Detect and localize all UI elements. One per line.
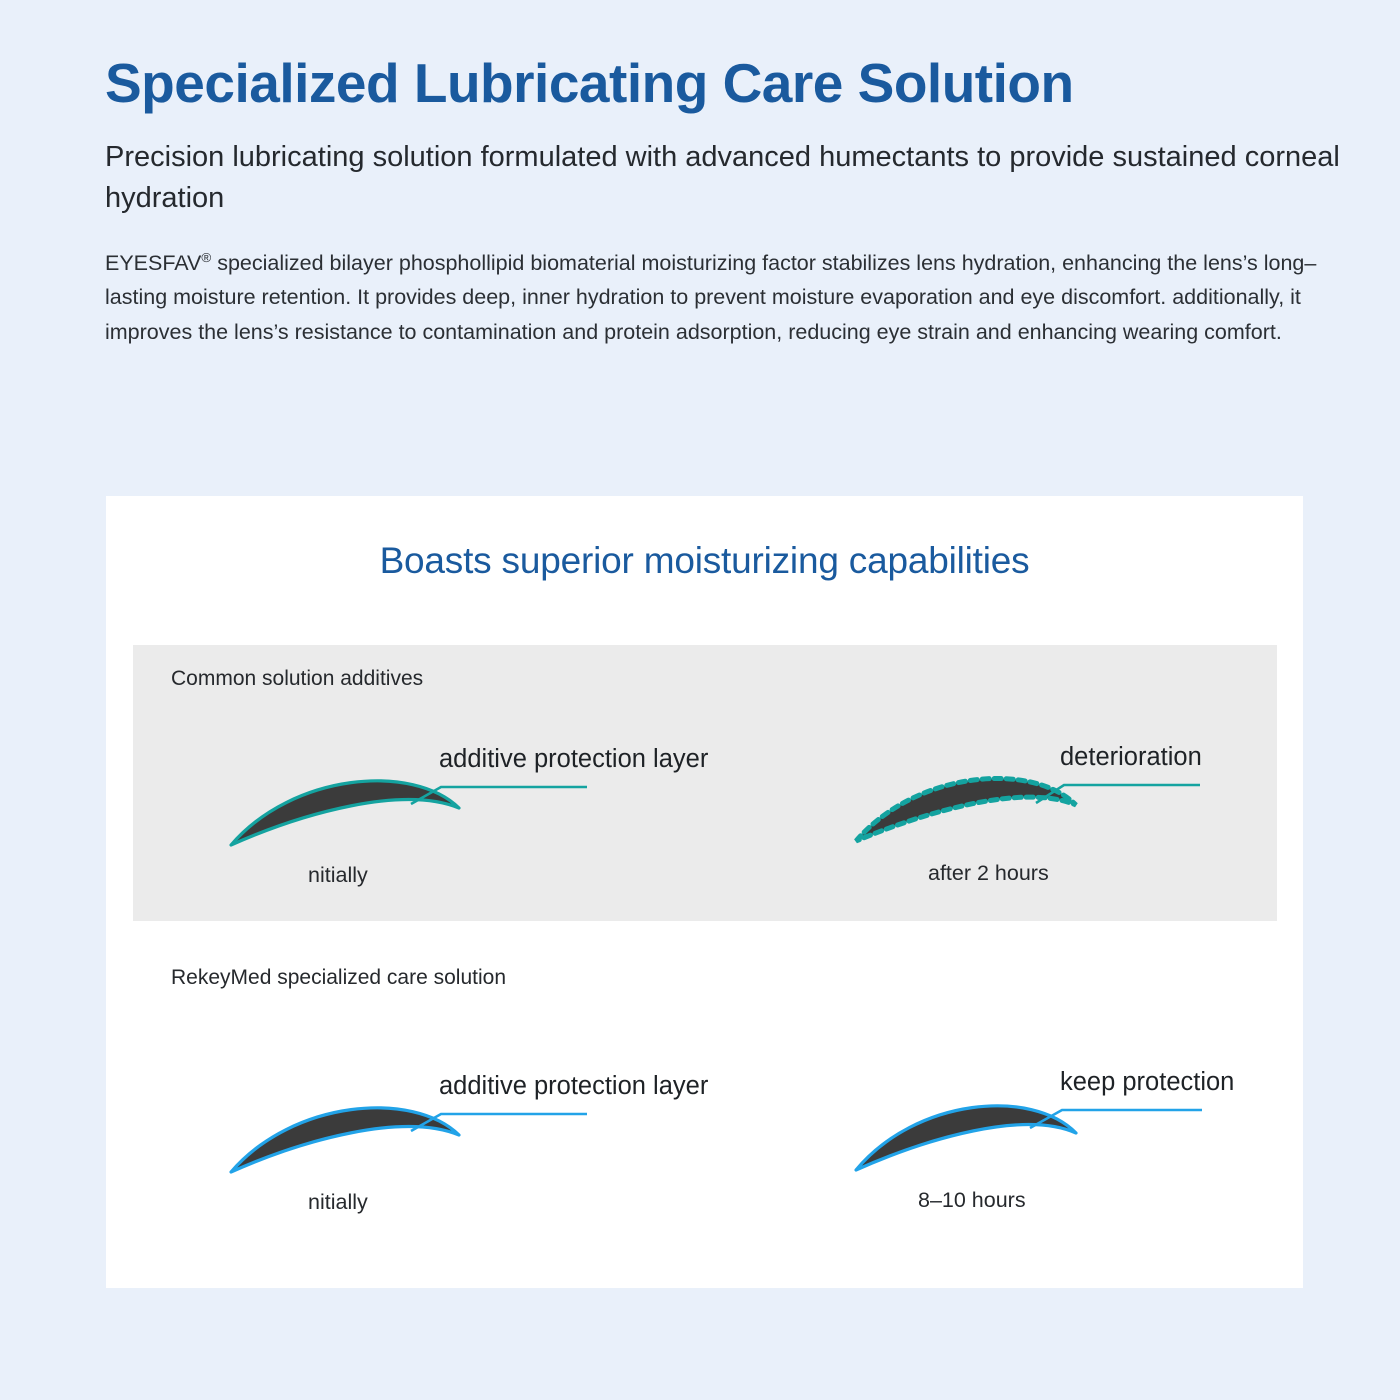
lens-row-common: additive protection layer nitially deter… — [133, 645, 1277, 921]
page-root: Specialized Lubricating Care Solution Pr… — [0, 0, 1400, 1400]
panel-common-additives: Common solution additives additive prote… — [133, 645, 1277, 921]
body-paragraph: EYESFAV® specialized bilayer phosphollip… — [105, 246, 1320, 350]
comparison-card: Boasts superior moisturizing capabilitie… — [106, 496, 1303, 1288]
panel-rekeymed-solution: RekeyMed specialized care solution addit… — [133, 944, 1277, 1254]
card-heading: Boasts superior moisturizing capabilitie… — [106, 496, 1303, 582]
body-paragraph-text: specialized bilayer phosphollipid biomat… — [105, 251, 1316, 345]
lens-shape-solid — [231, 1108, 459, 1172]
time-label-after-2-hours: after 2 hours — [928, 861, 1049, 886]
lens-cell-common-after2h: deterioration after 2 hours — [788, 645, 1348, 921]
lens-cell-rekeymed-initial: additive protection layer nitially — [143, 944, 703, 1254]
page-title: Specialized Lubricating Care Solution — [105, 52, 1345, 115]
lens-diagram-common-initial — [143, 645, 703, 921]
callout-label-keep-protection: keep protection — [1060, 1068, 1234, 1097]
registered-trademark-icon: ® — [201, 249, 211, 264]
callout-label-additive-protection-layer: additive protection layer — [439, 1072, 708, 1101]
callout-label-deterioration: deterioration — [1060, 743, 1202, 772]
lens-diagram-rekeymed-8to10h — [788, 944, 1348, 1254]
time-label-initially: nitially — [308, 1190, 368, 1215]
time-label-initially: nitially — [308, 863, 368, 888]
header-block: Specialized Lubricating Care Solution Pr… — [105, 52, 1345, 350]
lens-shape-solid — [231, 781, 459, 845]
lens-row-rekeymed: additive protection layer nitially keep … — [133, 944, 1277, 1254]
page-subtitle: Precision lubricating solution formulate… — [105, 137, 1345, 219]
lens-shape-solid — [856, 1106, 1076, 1170]
lens-cell-common-initial: additive protection layer nitially — [143, 645, 703, 921]
lens-diagram-common-after2h — [788, 645, 1348, 921]
brand-name: EYESFAV — [105, 251, 201, 275]
lens-shape-deteriorated — [856, 779, 1076, 841]
time-label-8-10-hours: 8–10 hours — [918, 1188, 1026, 1213]
callout-label-additive-protection-layer: additive protection layer — [439, 745, 708, 774]
lens-cell-rekeymed-8to10h: keep protection 8–10 hours — [788, 944, 1348, 1254]
